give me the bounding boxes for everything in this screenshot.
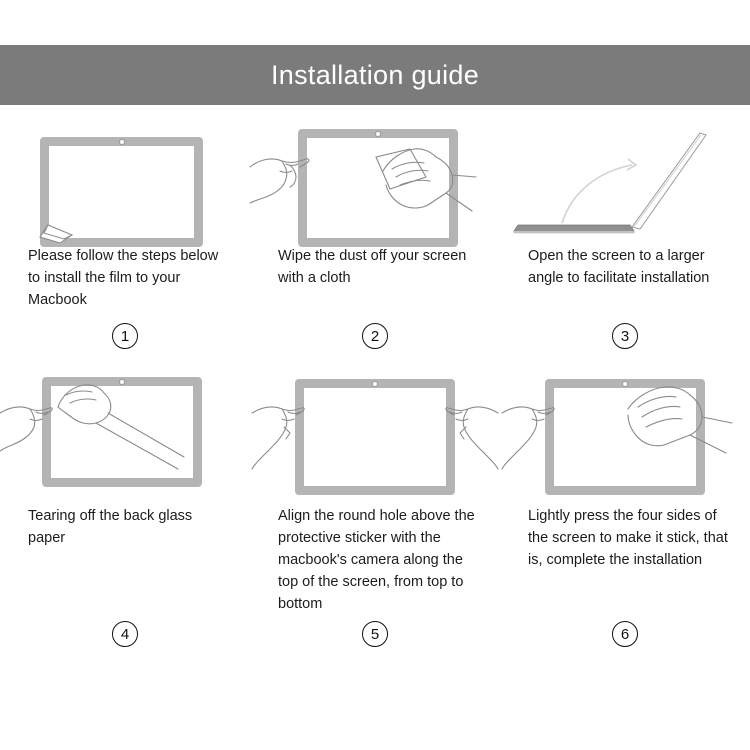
step-number-badge: 5	[362, 621, 388, 647]
step-6-number-wrap: 6	[500, 621, 750, 647]
step-4-caption: Tearing off the back glass paper	[0, 505, 250, 615]
step-card-1: Please follow the steps below to install…	[0, 115, 250, 349]
step-5-caption: Align the round hole above the protectiv…	[250, 505, 500, 615]
step-1-caption: Please follow the steps below to install…	[0, 245, 250, 315]
step-1-number-wrap: 1	[0, 323, 250, 349]
steps-grid: Please follow the steps below to install…	[0, 115, 750, 647]
step-card-2: Wipe the dust off your screen with a clo…	[250, 115, 500, 349]
step-number-badge: 3	[612, 323, 638, 349]
step-number-badge: 6	[612, 621, 638, 647]
step-card-3: Open the screen to a larger angle to fac…	[500, 115, 750, 349]
laptop-side-view-icon	[500, 115, 750, 247]
hands-and-cloth-icon	[250, 115, 500, 247]
step-number-badge: 1	[112, 323, 138, 349]
step-2-number-wrap: 2	[250, 323, 500, 349]
step-number-badge: 4	[112, 621, 138, 647]
step-3-caption: Open the screen to a larger angle to fac…	[500, 245, 750, 315]
step-1-illustration	[0, 115, 250, 245]
step-6-illustration	[500, 365, 750, 505]
header-banner: Installation guide	[0, 45, 750, 105]
step-5-number-wrap: 5	[250, 621, 500, 647]
hand-pressing-screen-icon	[500, 365, 750, 505]
step-card-6: Lightly press the four sides of the scre…	[500, 365, 750, 647]
step-2-illustration	[250, 115, 500, 245]
hands-peeling-paper-icon	[0, 365, 250, 505]
page-title: Installation guide	[271, 62, 479, 89]
step-5-illustration	[250, 365, 500, 505]
step-2-caption: Wipe the dust off your screen with a clo…	[250, 245, 500, 315]
installation-guide-page: Installation guide Please follow the ste…	[0, 0, 750, 750]
step-3-number-wrap: 3	[500, 323, 750, 349]
step-card-5: Align the round hole above the protectiv…	[250, 365, 500, 647]
step-6-caption: Lightly press the four sides of the scre…	[500, 505, 750, 615]
two-hands-aligning-icon	[250, 365, 500, 505]
step-card-4: Tearing off the back glass paper 4	[0, 365, 250, 647]
step-4-illustration	[0, 365, 250, 505]
peeling-film-corner-icon	[0, 115, 250, 245]
step-3-illustration	[500, 115, 750, 245]
step-4-number-wrap: 4	[0, 621, 250, 647]
step-number-badge: 2	[362, 323, 388, 349]
